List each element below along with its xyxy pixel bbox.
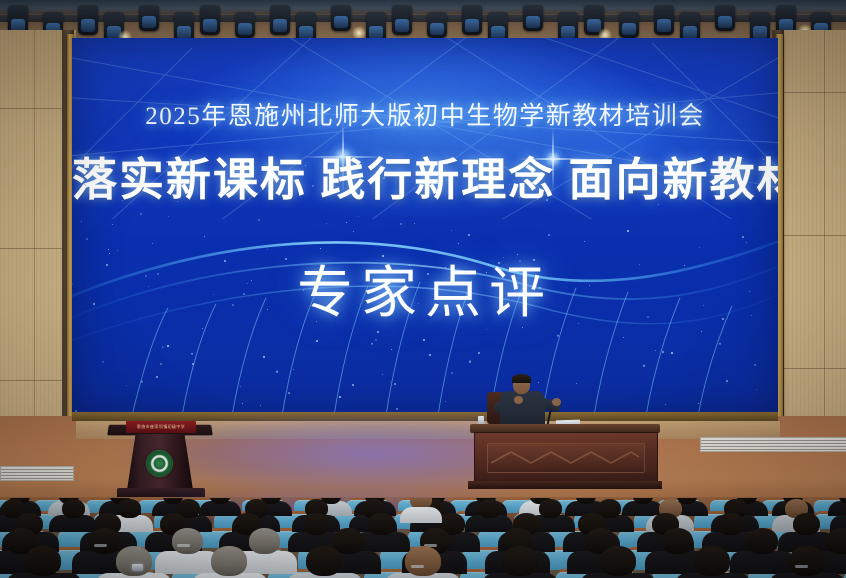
stage-light-fixture: [392, 5, 412, 35]
screen-subtitle: 2025年恩施州北师大版初中生物学新教材培训会: [72, 96, 778, 132]
eyeglasses-icon: [94, 544, 107, 547]
led-stage-screen: 2025年恩施州北师大版初中生物学新教材培训会 落实新课标 践行新理念 面向新教…: [72, 38, 778, 416]
stage-light-fixture: [654, 5, 674, 35]
audience-head: [62, 499, 85, 518]
screen-headline: 落实新课标 践行新理念 面向新教材: [72, 143, 778, 208]
audience-head: [747, 528, 778, 554]
eyeglasses-icon: [795, 565, 808, 568]
audience-phone[interactable]: [132, 564, 143, 571]
presenter-desk-base: [468, 481, 662, 489]
stage-light-fixture: [78, 5, 98, 35]
seated-audience: [0, 498, 846, 578]
presenter-desk: [474, 432, 658, 484]
audience-head: [478, 499, 501, 518]
audience-head: [89, 528, 120, 554]
audience-head: [662, 528, 693, 554]
front-row-shoulders: [400, 507, 442, 523]
stage-light-fixture: [270, 5, 290, 35]
audience-head: [306, 546, 342, 576]
audience-head: [793, 513, 820, 535]
audience-head: [598, 499, 621, 518]
audience-head: [303, 513, 330, 535]
audience-head: [118, 499, 141, 518]
audience-head: [211, 546, 247, 576]
audience-head: [789, 546, 825, 576]
audience-head: [826, 528, 846, 554]
stage-light-fixture: [331, 5, 351, 31]
audience-head: [405, 546, 441, 576]
school-crest-emblem: [146, 450, 173, 477]
left-floor-vent: [0, 466, 74, 481]
presenter-torso: [500, 391, 545, 427]
audience-shoulders: [730, 551, 795, 574]
presenter-left-hand: [514, 396, 523, 404]
eyeglasses-icon: [177, 544, 190, 547]
eyeglasses-icon: [411, 565, 424, 568]
desk-chevron-molding: [489, 447, 641, 467]
audience-head: [539, 499, 562, 518]
stage-light-fixture: [619, 12, 639, 38]
audience-head: [717, 513, 744, 535]
presenter-right-hand: [552, 398, 561, 406]
audience-head: [249, 528, 280, 554]
right-floor-vent: [700, 437, 846, 452]
presenter-hair: [512, 374, 531, 383]
particle-stars: [72, 38, 778, 416]
stage-light-fixture: [462, 5, 482, 35]
audience-head: [116, 546, 152, 576]
stage-light-fixture: [200, 5, 220, 35]
audience-head: [172, 528, 203, 554]
audience-head: [600, 546, 636, 576]
audience-head: [25, 546, 61, 576]
stage-light-fixture: [235, 12, 255, 38]
lectern-banner: 恩施市崔家坝镇初级中学: [126, 421, 196, 433]
audience-head: [368, 513, 395, 535]
screen-title: 专家点评: [72, 248, 778, 329]
stage-light-fixture: [523, 5, 543, 31]
stage-light-fixture: [139, 5, 159, 31]
stage-light-fixture: [715, 5, 735, 31]
stage-light-fixture: [427, 12, 447, 38]
audience-head: [502, 546, 538, 576]
auditorium-scene: 2025年恩施州北师大版初中生物学新教材培训会 落实新课标 践行新理念 面向新教…: [0, 0, 846, 578]
audience-head: [694, 546, 730, 576]
